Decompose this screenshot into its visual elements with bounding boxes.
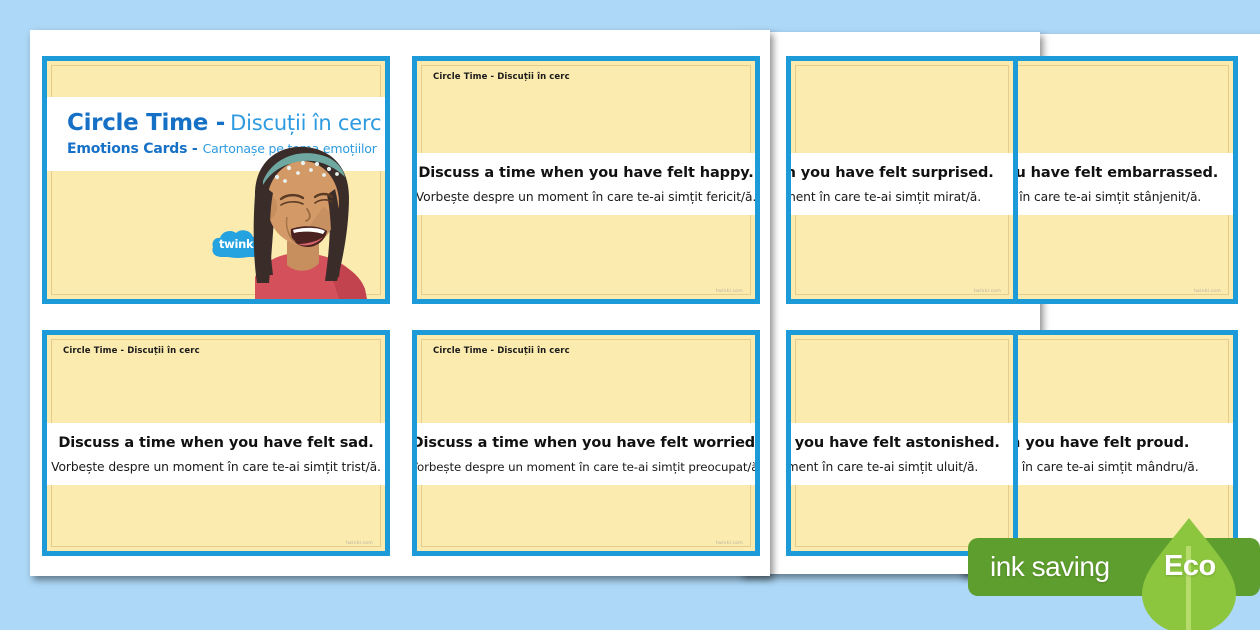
card-watermark: twinkl.com <box>716 289 743 294</box>
prompt-card-happy[interactable]: Circle Time - Discuții în cerc Discuss a… <box>412 56 760 304</box>
card-kicker: Circle Time - Discuții în cerc <box>433 346 570 356</box>
card-prompt-en: Discuss a time when you have felt worrie… <box>412 435 760 451</box>
prompt-card-worried[interactable]: Circle Time - Discuții în cerc Discuss a… <box>412 330 760 556</box>
prompt-card-surprised[interactable]: Circle Time - Discuții în cerc Discuss a… <box>786 56 1018 304</box>
card-text-band: Discuss a time when you have felt sad. V… <box>47 423 385 485</box>
card-text-band: Discuss a time when you have felt worrie… <box>417 423 755 485</box>
card-prompt-en: Discuss a time when you have felt proud. <box>1006 435 1189 451</box>
card-prompt-en: Discuss a time when you have felt sad. <box>58 435 373 451</box>
title-heading-light: Discuții în cerc <box>230 111 381 135</box>
card-prompt-en: Discuss a time when you have felt happy. <box>418 165 753 181</box>
card-prompt-en: Discuss a time when you have felt surpri… <box>786 165 994 181</box>
card-text-band: Discuss a time when you have felt proud.… <box>1011 423 1233 485</box>
card-watermark: twinkl.com <box>716 541 743 546</box>
prompt-card-astonished[interactable]: Circle Time - Discuții în cerc Discuss a… <box>786 330 1018 556</box>
title-heading: Circle Time - Discuții în cerc <box>67 112 385 135</box>
title-card[interactable]: Circle Time - Discuții în cerc Emotions … <box>42 56 390 304</box>
eco-label: Eco <box>1164 550 1216 583</box>
card-prompt-ro: Vorbește despre un moment în care te-ai … <box>412 460 760 474</box>
card-prompt-ro: Vorbește despre un moment în care te-ai … <box>416 190 756 204</box>
card-prompt-en: Discuss a time when you have felt embarr… <box>1006 165 1218 181</box>
card-prompt-ro: Vorbește despre un moment în care te-ai … <box>51 460 381 474</box>
card-prompt-ro: Vorbește despre un moment în care te-ai … <box>786 460 978 474</box>
card-watermark: twinkl.com <box>974 289 1001 294</box>
card-prompt-en: Discuss a time when you have felt astoni… <box>786 435 1000 451</box>
card-kicker: Circle Time - Discuții în cerc <box>433 72 570 82</box>
card-text-band: Discuss a time when you have felt astoni… <box>791 423 1013 485</box>
prompt-card-sad[interactable]: Circle Time - Discuții în cerc Discuss a… <box>42 330 390 556</box>
card-kicker: Circle Time - Discuții în cerc <box>63 346 200 356</box>
card-text-band: Discuss a time when you have felt embarr… <box>1011 153 1233 215</box>
card-prompt-ro: Vorbește despre un moment în care te-ai … <box>1006 190 1201 204</box>
ink-saving-eco-badge: ink saving Eco <box>968 538 1260 600</box>
preview-canvas: Circle Time - Discuții în cerc Discuss a… <box>0 0 1260 630</box>
card-prompt-ro: Vorbește despre un moment în care te-ai … <box>786 190 981 204</box>
ink-saving-label: ink saving <box>990 551 1110 583</box>
card-prompt-ro: Vorbește despre un moment în care te-ai … <box>1006 460 1199 474</box>
prompt-card-embarrassed[interactable]: Circle Time - Discuții în cerc Discuss a… <box>1006 56 1238 304</box>
card-text-band: Discuss a time when you have felt happy.… <box>417 153 755 215</box>
laughing-girl-illustration <box>219 141 385 299</box>
card-text-band: Discuss a time when you have felt surpri… <box>791 153 1013 215</box>
card-watermark: twinkl.com <box>1194 289 1221 294</box>
title-heading-strong: Circle Time - <box>67 110 225 136</box>
card-watermark: twinkl.com <box>346 541 373 546</box>
title-subheading-strong: Emotions Cards - <box>67 141 198 157</box>
